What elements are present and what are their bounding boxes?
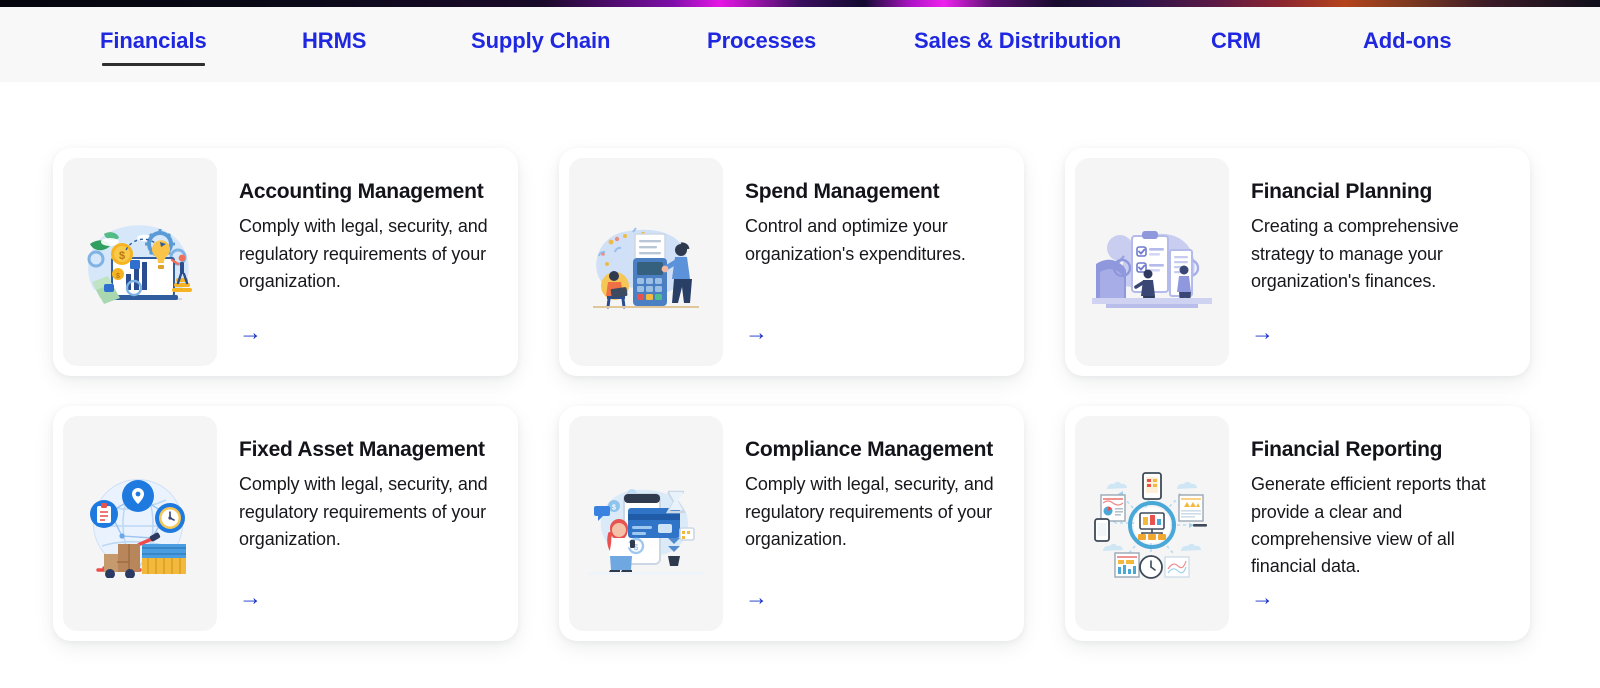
compliance-illustration: $ $ $ bbox=[569, 416, 723, 631]
nav-tab-financials[interactable]: Financials bbox=[100, 28, 207, 66]
nav-tab-label: Sales & Distribution bbox=[914, 28, 1121, 53]
nav-tab-processes[interactable]: Processes bbox=[707, 28, 816, 66]
fixed-asset-illustration bbox=[63, 416, 217, 631]
module-content: $ $ Accounting Manag bbox=[0, 82, 1600, 688]
card-title: Spend Management bbox=[745, 180, 998, 204]
card-body: Accounting ManagementComply with legal, … bbox=[217, 158, 508, 366]
top-gradient-strip bbox=[0, 0, 1600, 7]
svg-text:$: $ bbox=[1119, 264, 1124, 274]
navbar-tabs: FinancialsHRMSSupply ChainProcessesSales… bbox=[0, 7, 1600, 82]
card-description: Generate efficient reports that provide … bbox=[1251, 471, 1504, 580]
arrow-right-icon[interactable]: → bbox=[745, 321, 768, 344]
card-title: Accounting Management bbox=[239, 180, 492, 204]
card-description: Creating a comprehensive strategy to man… bbox=[1251, 213, 1504, 295]
module-card[interactable]: Fixed Asset ManagementComply with legal,… bbox=[53, 406, 518, 641]
nav-tab-label: Financials bbox=[100, 28, 207, 53]
card-thumbnail bbox=[569, 158, 723, 366]
card-body: Financial PlanningCreating a comprehensi… bbox=[1229, 158, 1520, 366]
card-thumbnail: $ $ bbox=[1075, 158, 1229, 366]
module-navbar: FinancialsHRMSSupply ChainProcessesSales… bbox=[0, 7, 1600, 82]
nav-tab-sales-distribution[interactable]: Sales & Distribution bbox=[914, 28, 1121, 66]
module-card[interactable]: $ $ $ bbox=[559, 406, 1024, 641]
card-body: Compliance ManagementComply with legal, … bbox=[723, 416, 1014, 631]
nav-tab-label: Processes bbox=[707, 28, 816, 53]
svg-text:$: $ bbox=[612, 504, 616, 511]
module-card[interactable]: $ $ Accounting Manag bbox=[53, 148, 518, 376]
card-thumbnail bbox=[63, 416, 217, 631]
card-description: Control and optimize your organization's… bbox=[745, 213, 998, 268]
card-description: Comply with legal, security, and regulat… bbox=[239, 213, 492, 295]
card-title: Fixed Asset Management bbox=[239, 438, 492, 462]
card-title: Financial Reporting bbox=[1251, 438, 1504, 462]
nav-tab-supply-chain[interactable]: Supply Chain bbox=[471, 28, 610, 66]
spend-illustration bbox=[569, 158, 723, 366]
arrow-right-icon[interactable]: → bbox=[1251, 586, 1274, 609]
card-body: Fixed Asset ManagementComply with legal,… bbox=[217, 416, 508, 631]
card-title: Compliance Management bbox=[745, 438, 998, 462]
arrow-right-icon[interactable]: → bbox=[239, 321, 262, 344]
card-body: Financial ReportingGenerate efficient re… bbox=[1229, 416, 1520, 631]
arrow-right-icon[interactable]: → bbox=[239, 586, 262, 609]
reporting-illustration bbox=[1075, 416, 1229, 631]
active-tab-underline bbox=[102, 63, 205, 66]
card-description: Comply with legal, security, and regulat… bbox=[239, 471, 492, 553]
arrow-right-icon[interactable]: → bbox=[1251, 321, 1274, 344]
card-title: Financial Planning bbox=[1251, 180, 1504, 204]
card-description: Comply with legal, security, and regulat… bbox=[745, 471, 998, 553]
nav-tab-label: HRMS bbox=[302, 28, 366, 53]
module-card[interactable]: Spend ManagementControl and optimize you… bbox=[559, 148, 1024, 376]
card-body: Spend ManagementControl and optimize you… bbox=[723, 158, 1014, 366]
card-thumbnail bbox=[1075, 416, 1229, 631]
module-card-grid: $ $ Accounting Manag bbox=[53, 148, 1531, 641]
nav-tab-crm[interactable]: CRM bbox=[1211, 28, 1261, 66]
card-thumbnail: $ $ bbox=[63, 158, 217, 366]
module-card[interactable]: Financial ReportingGenerate efficient re… bbox=[1065, 406, 1530, 641]
nav-tab-hrms[interactable]: HRMS bbox=[302, 28, 366, 66]
module-card[interactable]: $ $ bbox=[1065, 148, 1530, 376]
card-thumbnail: $ $ $ bbox=[569, 416, 723, 631]
accounting-illustration: $ $ bbox=[63, 158, 217, 366]
svg-text:$: $ bbox=[119, 250, 125, 262]
nav-tab-add-ons[interactable]: Add-ons bbox=[1363, 28, 1452, 66]
svg-text:$: $ bbox=[116, 273, 120, 280]
nav-tab-label: CRM bbox=[1211, 28, 1261, 53]
nav-tab-label: Add-ons bbox=[1363, 28, 1452, 53]
planning-illustration: $ $ bbox=[1075, 158, 1229, 366]
nav-tab-label: Supply Chain bbox=[471, 28, 610, 53]
arrow-right-icon[interactable]: → bbox=[745, 586, 768, 609]
